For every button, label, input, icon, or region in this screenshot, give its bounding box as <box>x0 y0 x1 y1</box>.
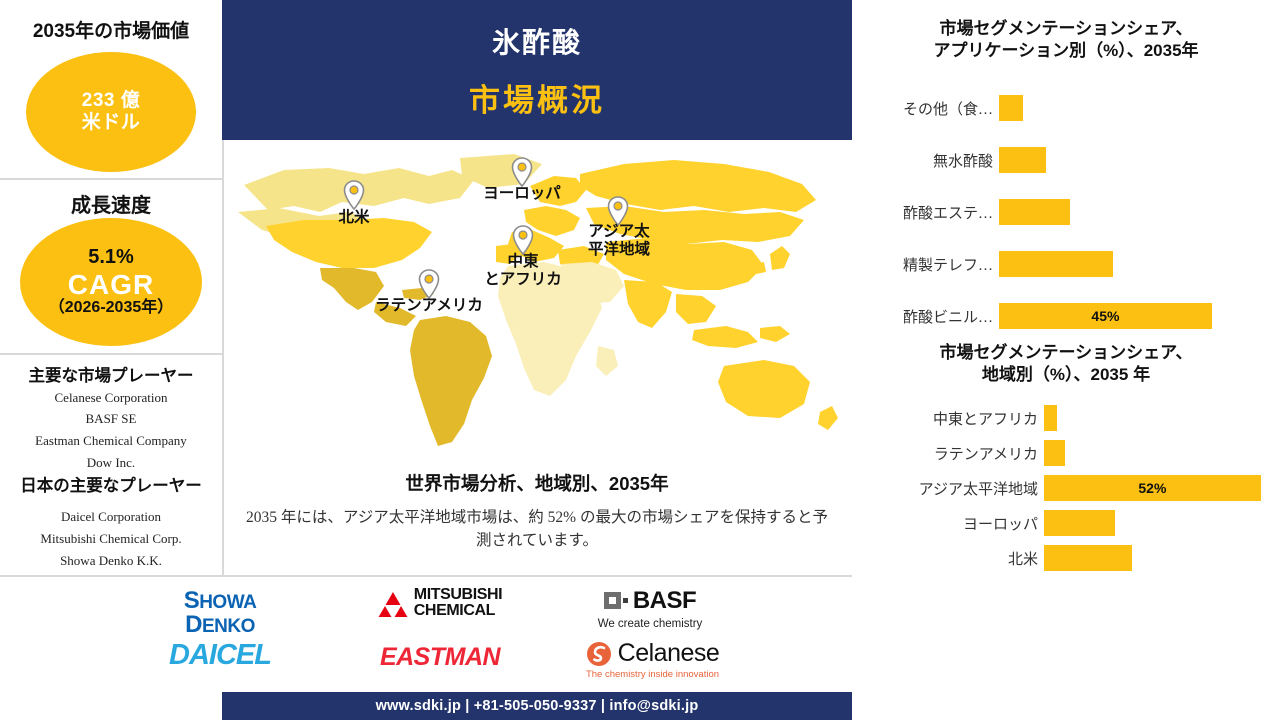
chart-bar-label: 精製テレフ… <box>852 254 993 275</box>
market-value-bubble: 233 億 米ドル <box>26 52 196 172</box>
chart-bar-label: 北米 <box>852 548 1038 569</box>
map-label-asia-pacific: アジア太平洋地域 <box>576 223 662 259</box>
japan-players-title: 日本の主要なプレーヤー <box>0 472 222 496</box>
region-chart-title-line1: 市場セグメンテーションシェア、 <box>852 342 1280 364</box>
infographic-page: 2035年の市場価値 233 億 米ドル 成長速度 5.1% CAGR （202… <box>0 0 1280 720</box>
chart-bar: 52% <box>1044 475 1261 501</box>
showa-logo-d: D <box>185 611 202 638</box>
chart-bar-value: 52% <box>1044 475 1261 501</box>
world-map: 北米 ヨーロッパ アジア太平洋地域 中東とアフリカ ラテンアメリカ <box>224 150 850 450</box>
divider-1 <box>0 178 222 180</box>
list-item: Mitsubishi Chemical Corp. <box>0 531 222 547</box>
chart-bar-row: アジア太平洋地域52% <box>852 475 1261 501</box>
world-map-panel: 北米 ヨーロッパ アジア太平洋地域 中東とアフリカ ラテンアメリカ <box>222 140 856 575</box>
basf-tagline: We create chemistry <box>565 618 735 630</box>
company-logo-strip: SHOWA DENKO DAICEL MITSUBISHI CHEMICAL <box>0 575 852 694</box>
chart-bar-row: その他（食… <box>852 95 1023 121</box>
chart-bar <box>999 251 1113 277</box>
contact-footer: www.sdki.jp | +81-505-050-9337 | info@sd… <box>222 692 852 720</box>
chart-bar-row: ヨーロッパ <box>852 510 1115 536</box>
chart-bar <box>1044 405 1057 431</box>
map-label-asia-pacific-l2: 平洋地域 <box>588 241 650 258</box>
daicel-logo: DAICEL <box>140 639 300 672</box>
chart-bar-row: 酢酸エステ… <box>852 199 1070 225</box>
cagr-period: （2026-2035年） <box>49 299 174 318</box>
map-label-europe: ヨーロッパ <box>462 185 582 203</box>
map-caption-body: 2035 年には、アジア太平洋地域市場は、約 52% の最大の市場シェアを保持す… <box>242 506 832 553</box>
chart-bar <box>999 147 1046 173</box>
chart-bar-row: 酢酸ビニル…45% <box>852 303 1212 329</box>
list-item: Showa Denko K.K. <box>0 553 222 569</box>
map-label-middle-east-africa: 中東とアフリカ <box>465 253 581 289</box>
list-item: BASF SE <box>0 411 222 427</box>
map-label-mea-l1: 中東 <box>507 253 538 270</box>
application-chart-title-line2: アプリケーション別（%）、2035年 <box>852 40 1280 62</box>
chart-bar-label: 中東とアフリカ <box>852 408 1038 429</box>
map-pin-middle-east-africa <box>512 225 534 255</box>
celanese-swirl-icon <box>586 641 612 667</box>
list-item: Eastman Chemical Company <box>0 433 222 449</box>
mitsubishi-diamond-icon <box>378 589 408 617</box>
region-chart-title: 市場セグメンテーションシェア、 地域別（%）、2035 年 <box>852 342 1280 386</box>
daicel-logo-text: DAICEL <box>140 639 300 672</box>
mitsubishi-logo-line2: CHEMICAL <box>414 603 502 619</box>
chart-bar-label: アジア太平洋地域 <box>852 478 1038 499</box>
showa-logo-s: S <box>184 587 200 614</box>
chart-bar-row: 精製テレフ… <box>852 251 1113 277</box>
market-value-amount: 233 億 <box>82 90 140 112</box>
divider-2 <box>0 353 222 355</box>
map-label-mea-l2: とアフリカ <box>484 271 562 288</box>
list-item: Daicel Corporation <box>0 509 222 525</box>
map-pin-asia-pacific <box>607 196 629 226</box>
basf-square-icon <box>604 590 628 612</box>
map-caption-title: 世界市場分析、地域別、2035年 <box>224 470 850 496</box>
map-label-latin-america: ラテンアメリカ <box>350 297 508 315</box>
chart-bar-row: ラテンアメリカ <box>852 440 1065 466</box>
application-chart-title-line1: 市場セグメンテーションシェア、 <box>852 18 1280 40</box>
celanese-logo: Celanese The chemistry inside innovation <box>560 639 745 680</box>
right-charts-column: 市場セグメンテーションシェア、 アプリケーション別（%）、2035年 その他（食… <box>852 0 1280 720</box>
page-title: 氷酢酸 <box>492 21 582 61</box>
chart-bar-label: ヨーロッパ <box>852 513 1038 534</box>
chart-bar-row: 無水酢酸 <box>852 147 1046 173</box>
market-value-currency: 米ドル <box>82 112 141 134</box>
eastman-logo: EASTMAN <box>345 643 535 672</box>
map-pin-latin-america <box>418 269 440 299</box>
showa-logo-enko: ENKO <box>202 616 255 637</box>
chart-bar <box>1044 440 1065 466</box>
chart-bar-value: 45% <box>999 303 1212 329</box>
cagr-bubble: 5.1% CAGR （2026-2035年） <box>20 218 202 346</box>
eastman-logo-text: EASTMAN <box>345 643 535 672</box>
chart-bar-label: ラテンアメリカ <box>852 443 1038 464</box>
map-pin-north-america <box>343 180 365 210</box>
chart-bar-row: 中東とアフリカ <box>852 405 1057 431</box>
cagr-percent: 5.1% <box>88 246 134 270</box>
chart-bar-label: 酢酸ビニル… <box>852 306 993 327</box>
map-label-asia-pacific-l1: アジア太 <box>588 223 649 240</box>
cagr-acronym: CAGR <box>68 270 154 299</box>
showa-logo-howa: HOWA <box>199 592 256 613</box>
chart-bar <box>1044 510 1115 536</box>
chart-bar-label: 無水酢酸 <box>852 150 993 171</box>
map-label-north-america: 北米 <box>315 209 393 227</box>
list-item: Dow Inc. <box>0 455 222 471</box>
chart-bar <box>999 199 1070 225</box>
key-players-title: 主要な市場プレーヤー <box>0 362 222 386</box>
market-value-title: 2035年の市場価値 <box>0 16 222 43</box>
report-header: 氷酢酸 市場概況 <box>222 0 852 140</box>
chart-bar-row: 北米 <box>852 545 1132 571</box>
chart-bar-label: 酢酸エステ… <box>852 202 993 223</box>
map-pin-europe <box>511 157 533 187</box>
chart-bar <box>999 95 1023 121</box>
mitsubishi-logo-line1: MITSUBISHI <box>414 587 502 603</box>
growth-rate-title: 成長速度 <box>0 189 222 218</box>
basf-logo: BASF We create chemistry <box>565 587 735 630</box>
showa-denko-logo: SHOWA DENKO <box>140 589 300 637</box>
mitsubishi-chemical-logo: MITSUBISHI CHEMICAL <box>345 587 535 620</box>
chart-bar: 45% <box>999 303 1212 329</box>
application-chart-title: 市場セグメンテーションシェア、 アプリケーション別（%）、2035年 <box>852 18 1280 62</box>
celanese-tagline: The chemistry inside innovation <box>560 669 745 680</box>
chart-bar-label: その他（食… <box>852 98 993 119</box>
basf-logo-text: BASF <box>633 587 696 615</box>
footer-contact-text: www.sdki.jp | +81-505-050-9337 | info@sd… <box>376 698 699 714</box>
celanese-logo-text: Celanese <box>618 639 720 668</box>
list-item: Celanese Corporation <box>0 390 222 406</box>
page-subtitle: 市場概況 <box>469 75 605 120</box>
chart-bar <box>1044 545 1132 571</box>
region-chart-title-line2: 地域別（%）、2035 年 <box>852 364 1280 386</box>
